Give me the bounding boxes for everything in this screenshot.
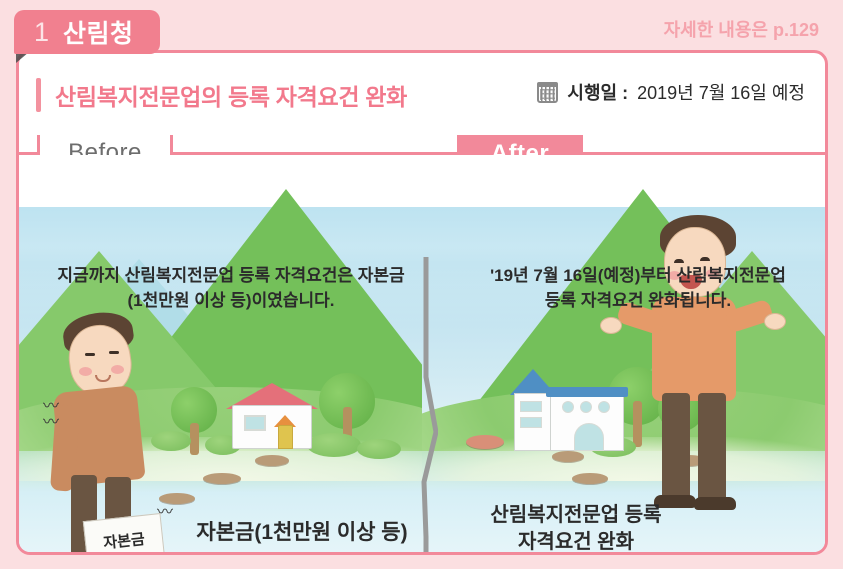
tab-agency-name: 산림청 bbox=[63, 14, 134, 50]
strain-motion-lines: 〰〰 bbox=[43, 399, 59, 431]
after-description-line1: '19년 7월 16일(예정)부터 산림복지전문업 bbox=[443, 264, 828, 289]
stepping-stone-icon bbox=[203, 473, 241, 484]
illustration-stage: 〰〰 〰 자본금 bbox=[19, 155, 825, 555]
bush-icon bbox=[151, 431, 191, 451]
hand-icon bbox=[600, 317, 622, 334]
panel-before-illustration: 〰〰 〰 자본금 bbox=[19, 155, 422, 555]
reference-note: 자세한 내용은 p.129 bbox=[664, 16, 819, 42]
after-caption-line1: 산림복지전문업 등록 bbox=[451, 502, 701, 529]
effective-date: 시행일 : 2019년 7월 16일 예정 bbox=[537, 79, 805, 105]
before-description-line1: 지금까지 산림복지전문업 등록 자격요건은 자본금 bbox=[41, 264, 421, 289]
stepping-stone-icon bbox=[159, 493, 195, 504]
before-description: 지금까지 산림복지전문업 등록 자격요건은 자본금 (1천만원 이상 등)이였습… bbox=[41, 264, 421, 313]
large-house-icon bbox=[510, 365, 630, 451]
content-card: 산림복지전문업의 등록 자격요건 완화 시행일 : 2019년 7월 16일 예… bbox=[16, 50, 828, 555]
stepping-stone-icon bbox=[552, 451, 584, 462]
before-description-line2: (1천만원 이상 등)이였습니다. bbox=[41, 289, 421, 314]
calendar-icon bbox=[537, 82, 558, 103]
panel-divider-zigzag bbox=[414, 257, 438, 555]
effective-date-value: 2019년 7월 16일 예정 bbox=[637, 79, 805, 105]
before-caption: 자본금(1천만원 이상 등) bbox=[177, 519, 427, 547]
title-accent-bar bbox=[36, 78, 41, 112]
hand-icon bbox=[764, 313, 786, 330]
infographic-page: 1 산림청 자세한 내용은 p.129 산림복지전문업의 등록 자격요건 완화 … bbox=[0, 0, 843, 569]
after-caption-line2: 자격요건 완화 bbox=[451, 529, 701, 555]
stepping-stone-icon bbox=[466, 435, 504, 449]
tab-number: 1 bbox=[34, 19, 49, 46]
money-label-tag: 자본금 bbox=[83, 513, 165, 555]
page-title: 산림복지전문업의 등록 자격요건 완화 bbox=[55, 78, 407, 112]
bush-icon bbox=[357, 439, 401, 459]
after-description-line2: 등록 자격요건 완화됩니다. bbox=[443, 289, 828, 314]
agency-tab: 1 산림청 bbox=[14, 10, 160, 54]
after-caption: 산림복지전문업 등록 자격요건 완화 bbox=[451, 502, 701, 555]
effective-date-label: 시행일 : bbox=[567, 79, 628, 105]
stepping-stone-icon bbox=[255, 455, 289, 466]
panel-after-illustration bbox=[422, 155, 825, 555]
stepping-stone-icon bbox=[572, 473, 608, 484]
money-stack-icon bbox=[69, 553, 153, 555]
small-house-icon bbox=[226, 383, 318, 449]
after-description: '19년 7월 16일(예정)부터 산림복지전문업 등록 자격요건 완화됩니다. bbox=[443, 264, 828, 313]
